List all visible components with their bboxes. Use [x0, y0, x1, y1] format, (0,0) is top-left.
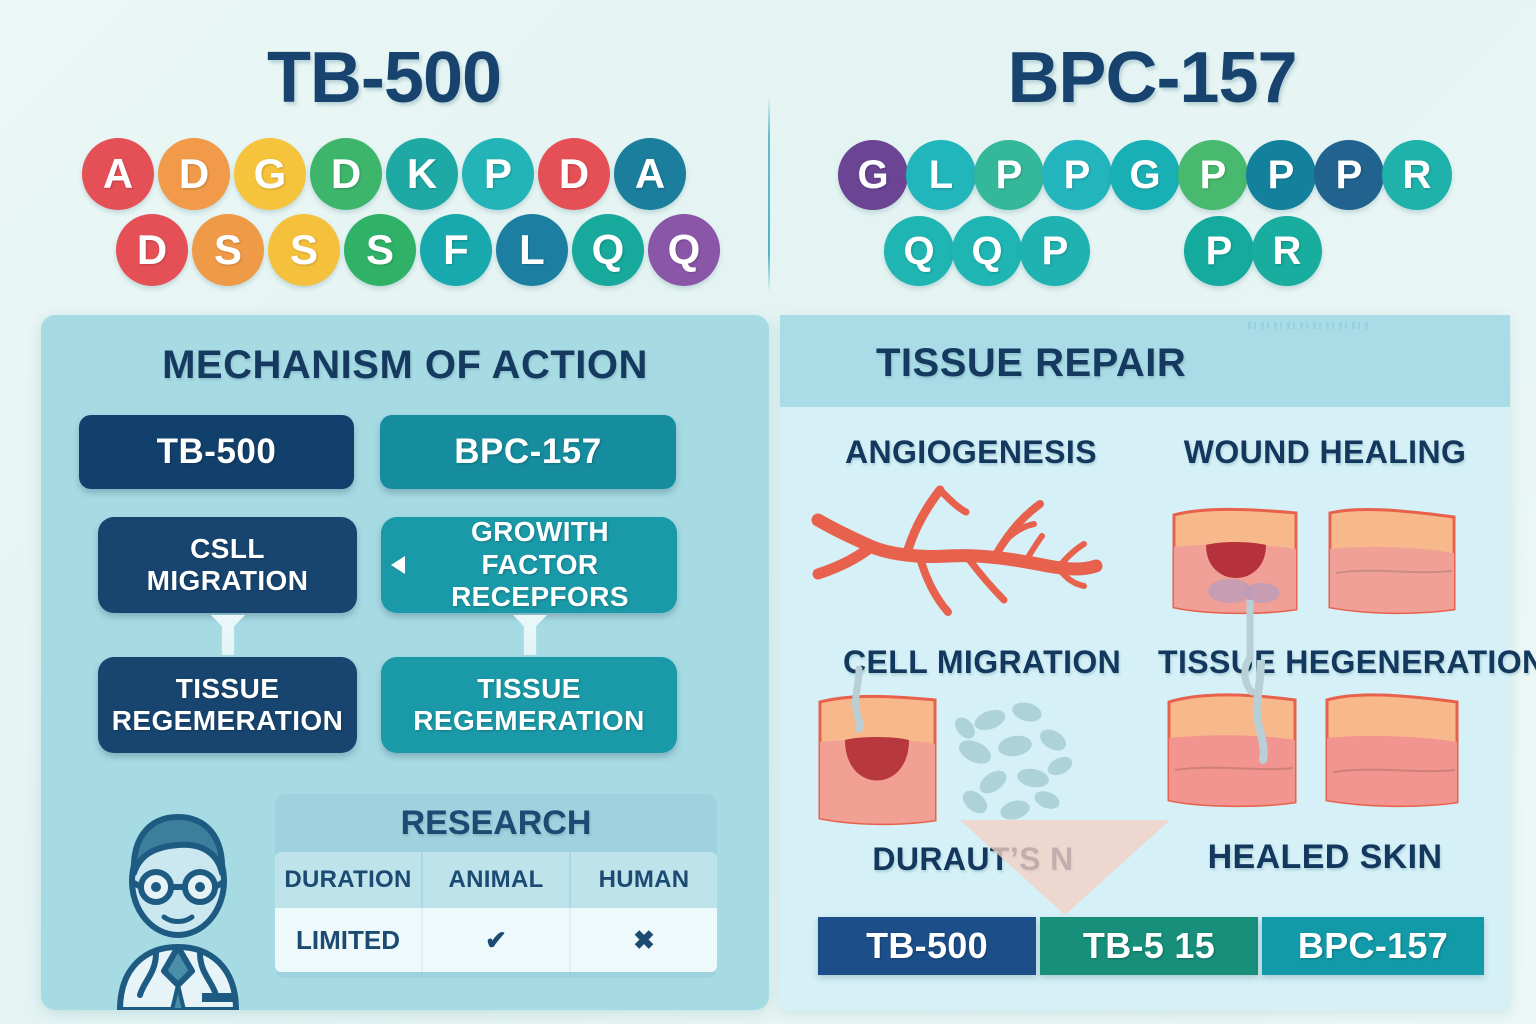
aa-bpc157-r2-q-0: Q: [884, 216, 954, 286]
mechanism-of-action-title: MECHANISM OF ACTION: [41, 343, 769, 388]
aa-tb500-r2-l-5: L: [496, 214, 568, 286]
bpc157-title-header: BPC-157: [768, 30, 1536, 125]
receptor-pointer-icon: [391, 556, 405, 574]
research-title: RESEARCH: [275, 804, 717, 843]
research-value-human-cross-icon: ✖: [571, 908, 717, 972]
research-table-header-row: DURATION ANIMAL HUMAN: [275, 852, 717, 908]
aa-bpc157-r1-g-0: G: [838, 140, 908, 210]
aa-bpc157-r1-p-5: P: [1178, 140, 1248, 210]
label-wound-healing: WOUND HEALING: [1180, 434, 1470, 471]
aa-bpc157-r2-p-2: P: [1020, 216, 1090, 286]
aa-tb500-r1-d-6: D: [538, 138, 610, 210]
tb500-title-header: TB-500: [0, 30, 768, 125]
aa-bpc157-r2-p-3: P: [1184, 216, 1254, 286]
decorative-barcode: [1248, 322, 1368, 329]
research-table-row: LIMITED ✔ ✖: [275, 908, 717, 972]
aa-tb500-r1-k-4: K: [386, 138, 458, 210]
header-divider: [768, 96, 770, 292]
aa-bpc157-r1-p-7: P: [1314, 140, 1384, 210]
aa-tb500-r2-s-2: S: [268, 214, 340, 286]
tb500-title: TB-500: [267, 37, 501, 119]
aa-tb500-r1-p-5: P: [462, 138, 534, 210]
skin-regeneration-pair-icon: [1165, 690, 1465, 810]
doctor-illustration: [78, 795, 278, 1010]
aa-tb500-r1-a-7: A: [614, 138, 686, 210]
aa-bpc157-r1-l-1: L: [906, 140, 976, 210]
aa-tb500-r1-d-1: D: [158, 138, 230, 210]
aa-tb500-r2-s-3: S: [344, 214, 416, 286]
bottom-bar-bpc157[interactable]: BPC-157: [1262, 917, 1484, 975]
aa-bpc157-r1-p-6: P: [1246, 140, 1316, 210]
research-value-duration: LIMITED: [275, 908, 423, 972]
research-col-animal: ANIMAL: [423, 852, 571, 908]
blood-vessel-icon: [808, 478, 1118, 638]
moa-step-bpc157-1-label: GROWITH FACTOR RECEPFORS: [413, 516, 667, 613]
aa-tb500-r2-s-1: S: [192, 214, 264, 286]
aa-tb500-r2-q-6: Q: [572, 214, 644, 286]
connector-arrow-right: [513, 615, 547, 655]
bpc157-title: BPC-157: [1007, 37, 1296, 119]
moa-head-tb500[interactable]: TB-500: [79, 415, 354, 489]
aa-tb500-r2-q-7: Q: [648, 214, 720, 286]
moa-step-bpc157-1[interactable]: GROWITH FACTOR RECEPFORS: [381, 517, 677, 613]
aa-tb500-r1-g-2: G: [234, 138, 306, 210]
research-card: RESEARCH DURATION ANIMAL HUMAN LIMITED ✔…: [275, 794, 717, 978]
skin-cross-section-pair-icon: [1170, 505, 1460, 615]
doctor-icon: [78, 795, 278, 1010]
aa-bpc157-r1-p-2: P: [974, 140, 1044, 210]
bottom-bar-tb5-15[interactable]: TB-5 15: [1040, 917, 1258, 975]
aa-bpc157-r2-r-4: R: [1252, 216, 1322, 286]
aa-bpc157-r1-g-4: G: [1110, 140, 1180, 210]
connector-arrow-left: [211, 615, 245, 655]
wound-healing-illustration: [1170, 505, 1460, 620]
applicator-icon-3: [843, 665, 877, 735]
infographic-canvas: TB-500 BPC-157 ADGDKPDA DSSSFLQQ GLPPGPP…: [0, 0, 1536, 1024]
research-value-animal-check-icon: ✔: [423, 908, 571, 972]
angiogenesis-illustration: [808, 478, 1118, 643]
moa-step-tb500-2[interactable]: TISSUE REGEMERATION: [98, 657, 357, 753]
aa-bpc157-r1-p-3: P: [1042, 140, 1112, 210]
label-angiogenesis: ANGIOGENESIS: [845, 434, 1095, 471]
tissue-repair-title: TISSUE REPAIR: [876, 341, 1186, 386]
label-healed-skin: HEALED SKIN: [1180, 838, 1470, 877]
aa-tb500-r1-a-0: A: [82, 138, 154, 210]
applicator-icon-2: [1243, 660, 1283, 770]
bottom-bar-tb500[interactable]: TB-500: [818, 917, 1036, 975]
aa-tb500-r2-d-0: D: [116, 214, 188, 286]
tissue-regeneration-illustration: [1165, 690, 1465, 815]
aa-tb500-r1-d-3: D: [310, 138, 382, 210]
label-tissue-regeneration: TISSUE HEGENERATION: [1158, 644, 1468, 681]
aa-bpc157-r1-r-8: R: [1382, 140, 1452, 210]
aa-bpc157-r2-q-1: Q: [952, 216, 1022, 286]
research-col-duration: DURATION: [275, 852, 423, 908]
moa-step-tb500-1[interactable]: CSLL MIGRATION: [98, 517, 357, 613]
aa-tb500-r2-f-4: F: [420, 214, 492, 286]
label-cell-migration: CELL MIGRATION: [843, 644, 1093, 681]
moa-step-bpc157-2[interactable]: TISSUE REGEMERATION: [381, 657, 677, 753]
research-col-human: HUMAN: [571, 852, 717, 908]
research-table: DURATION ANIMAL HUMAN LIMITED ✔ ✖: [275, 852, 717, 972]
moa-head-bpc157[interactable]: BPC-157: [380, 415, 676, 489]
